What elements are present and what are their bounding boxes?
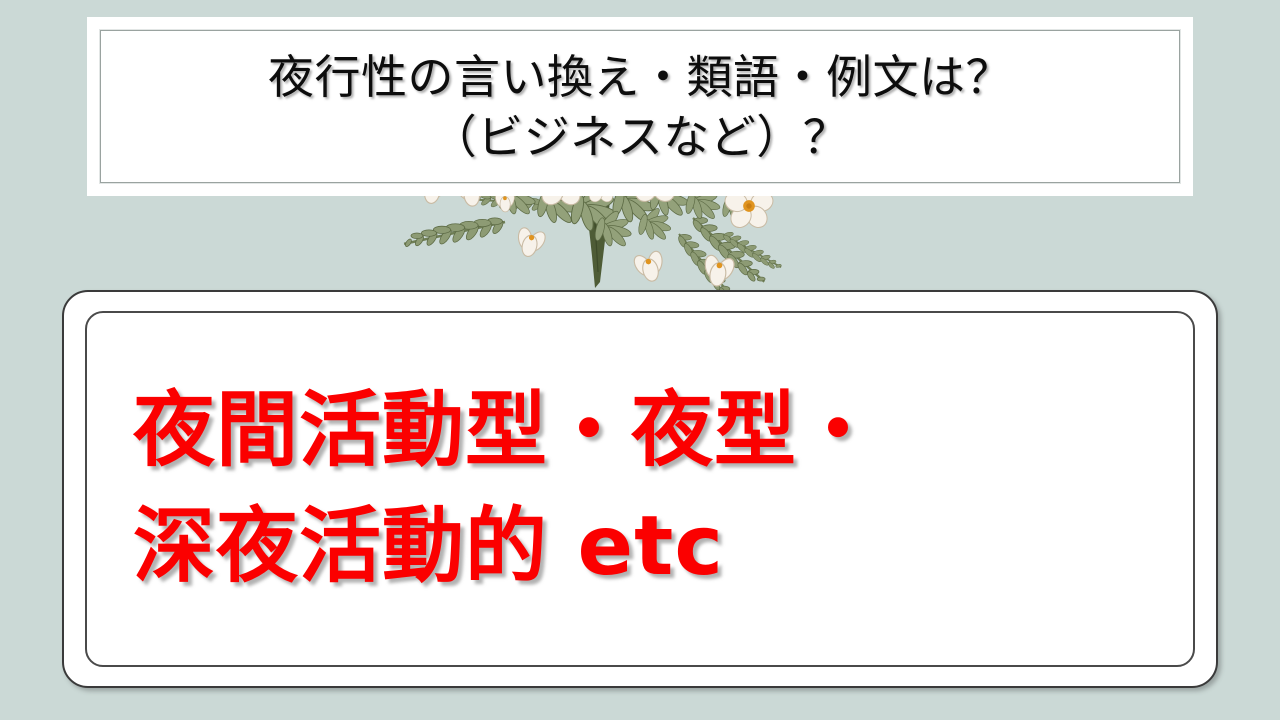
leaf-cluster-h [593, 209, 632, 249]
fern-left [401, 192, 509, 276]
title-inner-border: 夜行性の言い換え・類語・例文は？ （ビジネスなど）？ [100, 30, 1180, 183]
leaf-cluster-i [637, 206, 672, 241]
title-panel: 夜行性の言い換え・類語・例文は？ （ビジネスなど）？ [87, 17, 1193, 196]
title-line-2: （ビジネスなど）？ [431, 108, 850, 168]
answer-text-block: 夜間活動型・夜型・ 深夜活動的 etc [133, 359, 1159, 625]
bud-5 [699, 252, 739, 289]
bud-3 [511, 224, 549, 260]
answer-inner-border: 夜間活動型・夜型・ 深夜活動的 etc [85, 311, 1195, 667]
answer-line-2: 深夜活動的 etc [133, 489, 724, 605]
title-line-1: 夜行性の言い換え・類語・例文は？ [268, 48, 1012, 108]
fern-far-right [718, 229, 787, 271]
bud-4 [630, 247, 670, 285]
answer-card: 夜間活動型・夜型・ 深夜活動的 etc [62, 290, 1218, 688]
fern-right [679, 212, 779, 288]
title-text-block: 夜行性の言い換え・類語・例文は？ （ビジネスなど）？ [101, 31, 1179, 182]
answer-line-1: 夜間活動型・夜型・ [133, 373, 880, 489]
slide-canvas: 夜行性の言い換え・類語・例文は？ （ビジネスなど）？ [0, 0, 1280, 720]
